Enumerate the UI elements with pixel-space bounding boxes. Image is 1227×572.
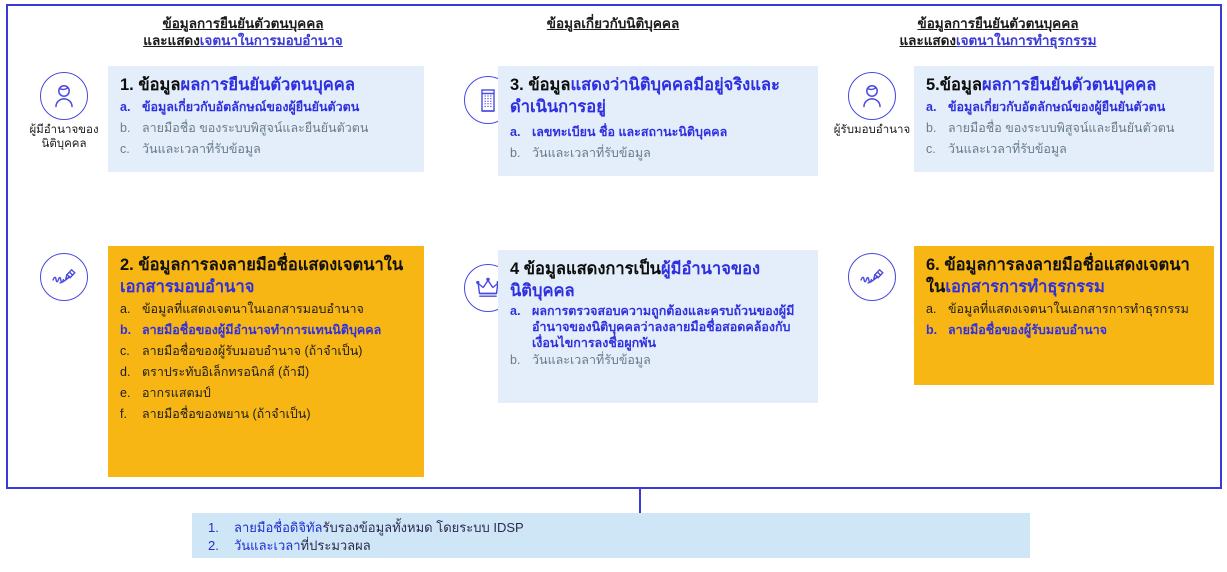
item-marker: f.	[120, 406, 136, 423]
item-text: ข้อมูลเกี่ยวกับอัตลักษณ์ของผู้ยืนยันตัวต…	[948, 100, 1165, 114]
column-headers: ข้อมูลการยืนยันตัวตนบุคคล และแสดงเจตนาใน…	[8, 6, 1220, 56]
item-text-blue: วันและเวลา	[234, 538, 301, 553]
column-header-juristic: ข้อมูลเกี่ยวกับนิติบุคคล	[438, 15, 788, 32]
list-item: a.ข้อมูลที่แสดงเจตนาในเอกสารการทำธุรกรรม	[926, 301, 1202, 318]
list-item: b.วันและเวลาที่รับข้อมูล	[510, 352, 806, 368]
card-signature-authorization-doc: 2. ข้อมูลการลงลายมือชื่อแสดงเจตนาในเอกสา…	[108, 246, 424, 477]
item-marker: b.	[926, 120, 942, 137]
signature-circle-icon	[848, 253, 896, 301]
footer-item-list: 1.ลายมือชื่อดิจิทัลรับรองข้อมูลทั้งหมด โ…	[206, 519, 1030, 555]
column-header-line1: ข้อมูลเกี่ยวกับนิติบุคคล	[547, 16, 679, 31]
main-frame: ข้อมูลการยืนยันตัวตนบุคคล และแสดงเจตนาใน…	[6, 4, 1222, 489]
card-title: 2. ข้อมูลการลงลายมือชื่อแสดงเจตนาในเอกสา…	[120, 254, 412, 298]
list-item: b.ลายมือชื่อ ของระบบพิสูจน์และยืนยันตัวต…	[926, 120, 1202, 137]
item-text-dark: ที่ประมวลผล	[301, 538, 371, 553]
column-header-line2: และแสดงเจตนาในการมอบอำนาจ	[143, 33, 342, 48]
list-item: a.เลขทะเบียน ชื่อ และสถานะนิติบุคคล	[510, 124, 806, 141]
actor-caption: ผู้รับมอบอำนาจ	[824, 123, 920, 137]
item-marker: b.	[510, 352, 526, 368]
card-item-list: a.ข้อมูลที่แสดงเจตนาในเอกสารการทำธุรกรรม…	[926, 301, 1202, 339]
card-item-list: a.ข้อมูลเกี่ยวกับอัตลักษณ์ของผู้ยืนยันตั…	[120, 99, 412, 158]
item-marker: a.	[120, 301, 136, 318]
item-text: ข้อมูลเกี่ยวกับอัตลักษณ์ของผู้ยืนยันตัวต…	[142, 100, 359, 114]
list-item: c.วันและเวลาที่รับข้อมูล	[926, 141, 1202, 158]
item-text: วันและเวลาที่รับข้อมูล	[948, 142, 1067, 156]
column-header-line1: ข้อมูลการยืนยันตัวตนบุคคล	[917, 16, 1078, 31]
actor-signature-2	[824, 253, 920, 301]
item-marker: a.	[120, 99, 136, 116]
list-item: 1.ลายมือชื่อดิจิทัลรับรองข้อมูลทั้งหมด โ…	[206, 519, 1030, 537]
list-item: c.วันและเวลาที่รับข้อมูล	[120, 141, 412, 158]
list-item: a.ข้อมูลที่แสดงเจตนาในเอกสารมอบอำนาจ	[120, 301, 412, 318]
list-item: b.วันและเวลาที่รับข้อมูล	[510, 145, 806, 162]
card-item-list: a.เลขทะเบียน ชื่อ และสถานะนิติบุคคล b.วั…	[510, 124, 806, 162]
item-text: ผลการตรวจสอบความถูกต้องและครบถ้วนของผู้ม…	[532, 304, 794, 350]
list-item: f.ลายมือชื่อของพยาน (ถ้าจำเป็น)	[120, 406, 412, 423]
column-header-line1: ข้อมูลการยืนยันตัวตนบุคคล	[162, 16, 323, 31]
item-text: วันและเวลาที่รับข้อมูล	[142, 142, 261, 156]
person-circle-icon	[40, 72, 88, 120]
item-marker: 1.	[208, 519, 219, 537]
list-item: c.ลายมือชื่อของผู้รับมอบอำนาจ (ถ้าจำเป็น…	[120, 343, 412, 360]
card-title: 5.ข้อมูลผลการยืนยันตัวตนบุคคล	[926, 74, 1202, 96]
list-item: 2.วันและเวลาที่ประมวลผล	[206, 537, 1030, 555]
item-text: อากรแสตมป์	[142, 386, 211, 400]
list-item: b.ลายมือชื่อของผู้รับมอบอำนาจ	[926, 322, 1202, 339]
item-text: วันและเวลาที่รับข้อมูล	[532, 353, 651, 367]
item-marker: a.	[926, 99, 942, 116]
item-marker: e.	[120, 385, 136, 402]
actor-signature-1	[16, 253, 112, 301]
card-title: 3. ข้อมูลแสดงว่านิติบุคคลมีอยู่จริงและดำ…	[510, 74, 806, 118]
card-juristic-existence: 3. ข้อมูลแสดงว่านิติบุคคลมีอยู่จริงและดำ…	[498, 66, 818, 176]
item-marker: b.	[510, 145, 526, 162]
item-text: ตราประทับอิเล็กทรอนิกส์ (ถ้ามี)	[142, 365, 309, 379]
actor-delegate: ผู้รับมอบอำนาจ	[824, 72, 920, 137]
item-text: ลายมือชื่อ ของระบบพิสูจน์และยืนยันตัวตน	[948, 121, 1174, 135]
item-text: ข้อมูลที่แสดงเจตนาในเอกสารมอบอำนาจ	[142, 302, 364, 316]
card-identity-result-authorizer: 1. ข้อมูลผลการยืนยันตัวตนบุคคล a.ข้อมูลเ…	[108, 66, 424, 172]
item-marker: 2.	[208, 537, 219, 555]
item-text-dark: รับรองข้อมูลทั้งหมด โดยระบบ IDSP	[323, 520, 524, 535]
card-juristic-authority: 4 ข้อมูลแสดงการเป็นผู้มีอำนาจของนิติบุคค…	[498, 250, 818, 403]
item-marker: a.	[926, 301, 942, 318]
item-text: ลายมือชื่อ ของระบบพิสูจน์และยืนยันตัวตน	[142, 121, 368, 135]
card-signature-transaction-doc: 6. ข้อมูลการลงลายมือชื่อแสดงเจตนาในเอกสา…	[914, 246, 1214, 385]
item-text: ลายมือชื่อของผู้รับมอบอำนาจ (ถ้าจำเป็น)	[142, 344, 362, 358]
signature-circle-icon	[40, 253, 88, 301]
card-item-list: a.ข้อมูลที่แสดงเจตนาในเอกสารมอบอำนาจ b.ล…	[120, 301, 412, 423]
list-item: d.ตราประทับอิเล็กทรอนิกส์ (ถ้ามี)	[120, 364, 412, 381]
item-marker: d.	[120, 364, 136, 381]
item-text: เลขทะเบียน ชื่อ และสถานะนิติบุคคล	[532, 125, 727, 139]
item-text: ลายมือชื่อของพยาน (ถ้าจำเป็น)	[142, 407, 311, 421]
list-item: b.ลายมือชื่อ ของระบบพิสูจน์และยืนยันตัวต…	[120, 120, 412, 137]
item-marker: b.	[120, 322, 136, 339]
actor-authorizer: ผู้มีอำนาจของ นิติบุคคล	[16, 72, 112, 151]
item-marker: a.	[510, 124, 526, 141]
card-identity-result-delegate: 5.ข้อมูลผลการยืนยันตัวตนบุคคล a.ข้อมูลเก…	[914, 66, 1214, 172]
list-item: e.อากรแสตมป์	[120, 385, 412, 402]
item-text: วันและเวลาที่รับข้อมูล	[532, 146, 651, 160]
item-marker: a.	[510, 303, 526, 319]
column-header-line2: และแสดงเจตนาในการทำธุรกรรม	[899, 33, 1096, 48]
item-marker: c.	[120, 343, 136, 360]
item-text: ลายมือชื่อของผู้รับมอบอำนาจ	[948, 323, 1107, 337]
item-text: ข้อมูลที่แสดงเจตนาในเอกสารการทำธุรกรรม	[948, 302, 1189, 316]
footer-summary-box: 1.ลายมือชื่อดิจิทัลรับรองข้อมูลทั้งหมด โ…	[192, 513, 1030, 558]
card-title: 6. ข้อมูลการลงลายมือชื่อแสดงเจตนาในเอกสา…	[926, 254, 1202, 298]
column-header-identity-transaction: ข้อมูลการยืนยันตัวตนบุคคล และแสดงเจตนาใน…	[798, 15, 1198, 49]
item-marker: c.	[120, 141, 136, 158]
diagram-root: ข้อมูลการยืนยันตัวตนบุคคล และแสดงเจตนาใน…	[0, 0, 1227, 572]
item-text-blue: ลายมือชื่อดิจิทัล	[234, 520, 323, 535]
person-circle-icon	[848, 72, 896, 120]
item-text: ลายมือชื่อของผู้มีอำนาจทำการแทนนิติบุคคล	[142, 323, 381, 337]
item-marker: b.	[120, 120, 136, 137]
card-title: 4 ข้อมูลแสดงการเป็นผู้มีอำนาจของนิติบุคค…	[510, 258, 806, 302]
list-item: a.ผลการตรวจสอบความถูกต้องและครบถ้วนของผู…	[510, 303, 806, 351]
card-item-list: a.ผลการตรวจสอบความถูกต้องและครบถ้วนของผู…	[510, 303, 806, 368]
list-item: b.ลายมือชื่อของผู้มีอำนาจทำการแทนนิติบุค…	[120, 322, 412, 339]
actor-caption: ผู้มีอำนาจของ นิติบุคคล	[16, 123, 112, 151]
card-item-list: a.ข้อมูลเกี่ยวกับอัตลักษณ์ของผู้ยืนยันตั…	[926, 99, 1202, 158]
card-title: 1. ข้อมูลผลการยืนยันตัวตนบุคคล	[120, 74, 412, 96]
item-marker: c.	[926, 141, 942, 158]
item-marker: b.	[926, 322, 942, 339]
column-header-identity-authorize: ข้อมูลการยืนยันตัวตนบุคคล และแสดงเจตนาใน…	[68, 15, 418, 49]
list-item: a.ข้อมูลเกี่ยวกับอัตลักษณ์ของผู้ยืนยันตั…	[120, 99, 412, 116]
list-item: a.ข้อมูลเกี่ยวกับอัตลักษณ์ของผู้ยืนยันตั…	[926, 99, 1202, 116]
